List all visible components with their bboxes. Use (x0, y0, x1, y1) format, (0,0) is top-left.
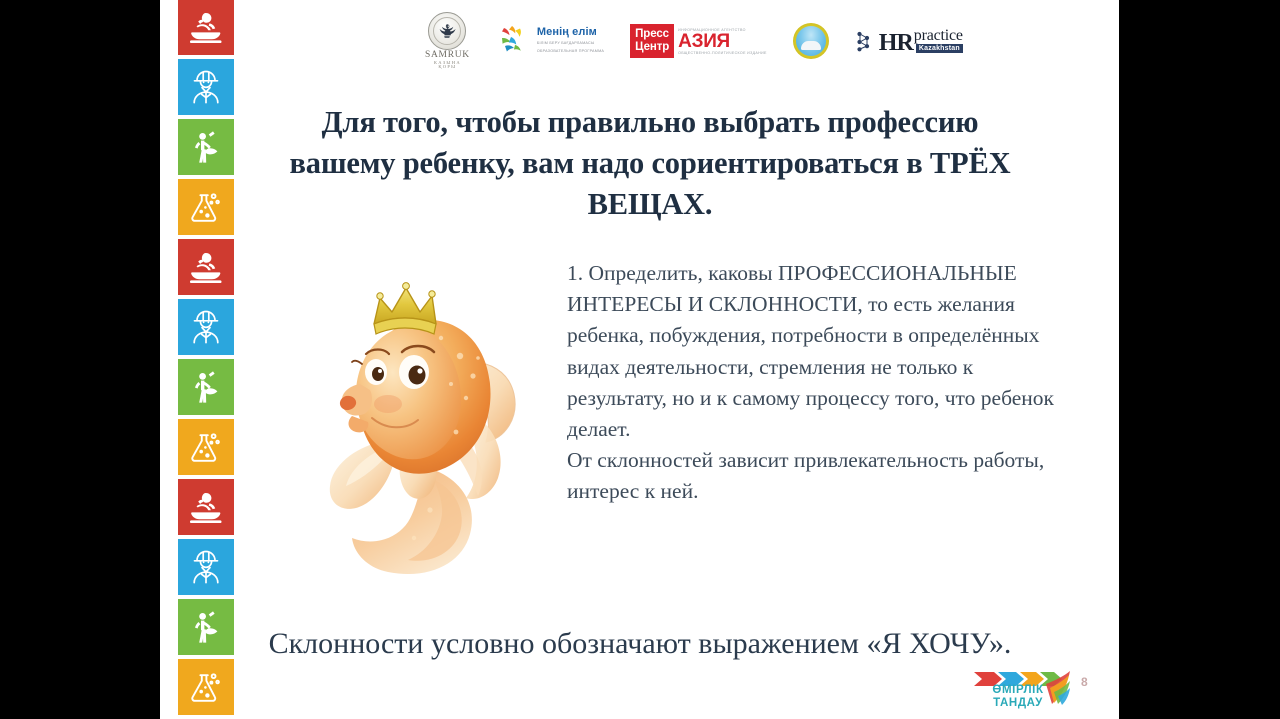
omirlik-tandau-wordmark: ӨМІРЛІК ТАНДАУ (972, 684, 1064, 710)
profession-tile-chemistry-flask (178, 179, 234, 235)
press-centr-box: Пресс Центр (630, 24, 674, 58)
chemistry-flask-icon (186, 667, 226, 707)
profession-tile-welder-worker (178, 359, 234, 415)
azia-caption-bottom: ОБЩЕСТВЕННО-ПОЛИТИЧЕСКОЕ ИЗДАНИЕ (678, 51, 767, 55)
omirlik-tandau-logo: ӨМІРЛІК ТАНДАУ (972, 670, 1072, 716)
slide-body-text: 1. Определить, каковы ПРОФЕССИОНАЛЬНЫЕ И… (567, 258, 1072, 508)
chef-cook-icon (186, 247, 226, 287)
chemistry-flask-icon (186, 427, 226, 467)
profession-tile-chef-cook (178, 479, 234, 535)
welder-worker-icon (186, 367, 226, 407)
welder-worker-icon (186, 127, 226, 167)
chemistry-flask-icon (186, 187, 226, 227)
press-word: Пресс (635, 28, 669, 41)
centr-word: Центр (635, 41, 669, 54)
menin-elim-tagline-kz: БІЛІМ БЕРУ БАҒДАРЛАМАСЫ (537, 41, 604, 47)
profession-tile-construction-worker (178, 59, 234, 115)
profession-tile-construction-worker (178, 299, 234, 355)
slide-bottom-statement: Склонности условно обозначают выражением… (220, 624, 1060, 664)
slide-canvas: SAMRUK КАЗЫНА ҚОРЫ (160, 0, 1119, 719)
chef-cook-icon (186, 487, 226, 527)
presentation-viewer: SAMRUK КАЗЫНА ҚОРЫ (0, 0, 1280, 719)
samruk-footnote: ҚОРЫ (425, 65, 470, 70)
menin-elim-tagline-ru: ОБРАЗОВАТЕЛЬНАЯ ПРОГРАММА (537, 49, 604, 55)
samruk-kazyna-logo: SAMRUK КАЗЫНА ҚОРЫ (425, 12, 470, 71)
state-emblem-logo (793, 23, 829, 59)
press-centr-azia-logo: Пресс Центр ИНФОРМАЦИОННОЕ АГЕНТСТВО АЗИ… (630, 24, 767, 58)
construction-worker-icon (186, 307, 226, 347)
hr-network-nodes-icon (855, 29, 877, 53)
menin-elim-petals-icon (496, 24, 532, 58)
profession-tile-chemistry-flask (178, 419, 234, 475)
profession-tile-chef-cook (178, 239, 234, 295)
profession-icon-strip (178, 0, 234, 719)
tandau-line: ТАНДАУ (972, 697, 1064, 710)
menin-elim-wordmark: Менің елім (537, 27, 604, 38)
construction-worker-icon (186, 547, 226, 587)
profession-tile-chef-cook (178, 0, 234, 55)
construction-worker-icon (186, 67, 226, 107)
profession-tile-construction-worker (178, 539, 234, 595)
omirlik-line: ӨМІРЛІК (972, 684, 1064, 697)
azia-wordmark: АЗИЯ (678, 32, 767, 51)
body-paragraph-1: 1. Определить, каковы ПРОФЕССИОНАЛЬНЫЕ И… (567, 261, 1054, 441)
chef-cook-icon (186, 7, 226, 47)
practice-wordmark: practice (914, 29, 963, 43)
samruk-wordmark: SAMRUK КАЗЫНА ҚОРЫ (425, 51, 470, 71)
samruk-bird-mark-icon (428, 12, 466, 50)
slide-headline: Для того, чтобы правильно выбрать профес… (280, 102, 1020, 225)
hr-practice-kazakhstan-logo: HR practice Kazakhstan (855, 29, 963, 54)
menin-elim-logo: Менің елім БІЛІМ БЕРУ БАҒДАРЛАМАСЫ ОБРАЗ… (496, 24, 604, 58)
goldfish-with-crown-illustration (310, 272, 550, 592)
profession-tile-welder-worker (178, 119, 234, 175)
slide-page-number: 8 (1081, 675, 1088, 689)
state-emblem-icon (793, 23, 829, 59)
profession-tile-chemistry-flask (178, 659, 234, 715)
hr-wordmark: HR (879, 33, 913, 53)
kazakhstan-badge: Kazakhstan (916, 44, 963, 54)
body-paragraph-2: От склонностей зависит привлекательность… (567, 445, 1072, 507)
partner-logo-bar: SAMRUK КАЗЫНА ҚОРЫ (425, 12, 1115, 70)
